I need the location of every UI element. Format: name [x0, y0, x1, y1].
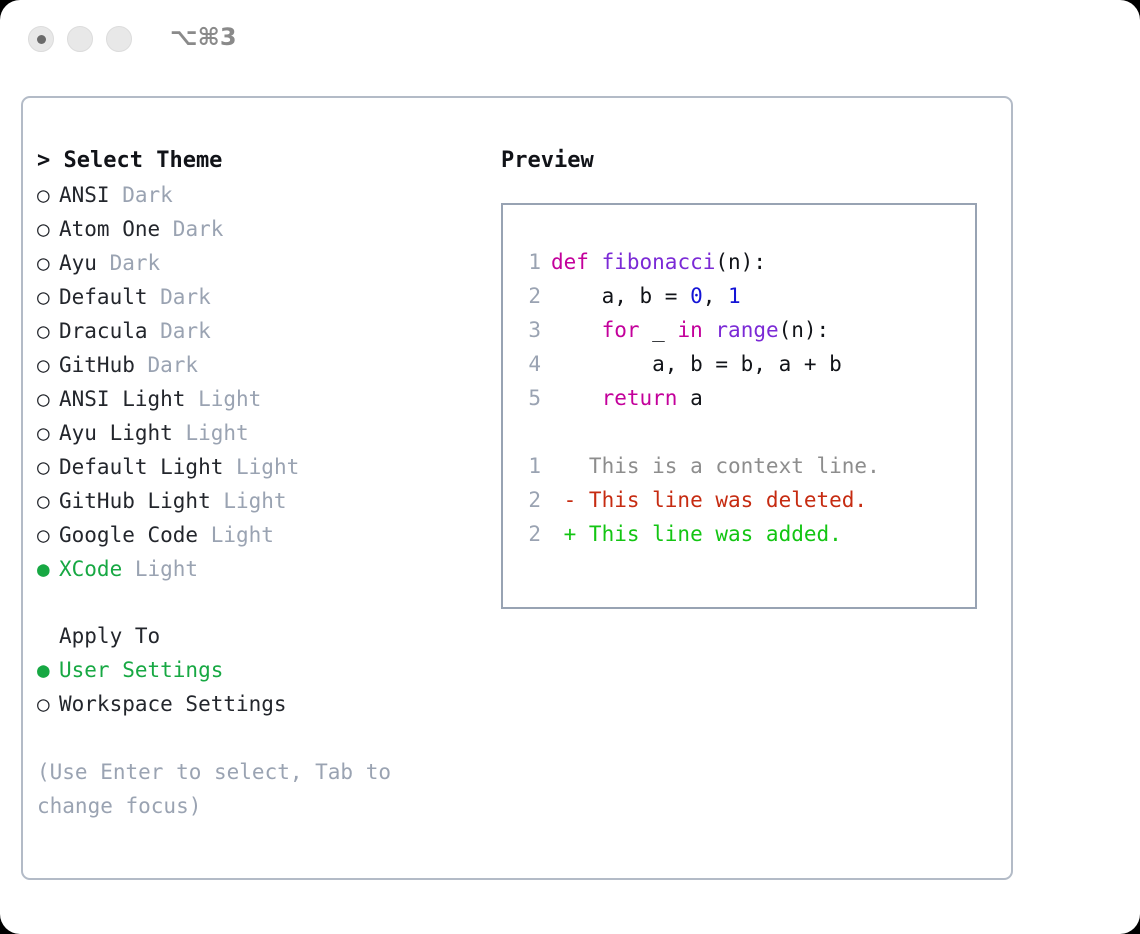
keyboard-hint-text: (Use Enter to select, Tab to change focu… — [37, 755, 437, 823]
theme-option-ayu[interactable]: ○Ayu Dark — [37, 246, 477, 280]
code-sample: 1def fibonacci(n):2 a, b = 0, 13 for _ i… — [513, 245, 969, 415]
preview-box: 1def fibonacci(n):2 a, b = 0, 13 for _ i… — [501, 203, 977, 609]
preview-column: Preview 1def fibonacci(n):2 a, b = 0, 13… — [501, 144, 991, 609]
keyboard-shortcut-label: ⌥⌘3 — [170, 23, 237, 51]
theme-option-atom-one[interactable]: ○Atom One Dark — [37, 212, 477, 246]
theme-option-kind: Dark — [97, 251, 160, 275]
theme-option-default-light[interactable]: ○Default Light Light — [37, 450, 477, 484]
theme-option-list: ○ANSI Dark○Atom One Dark○Ayu Dark○Defaul… — [37, 178, 477, 586]
radio-unselected-icon: ○ — [37, 246, 59, 280]
code-token-pl: a — [677, 386, 702, 410]
radio-unselected-icon: ○ — [37, 212, 59, 246]
code-token-pl — [703, 318, 716, 342]
code-token-kw: def — [551, 250, 589, 274]
theme-option-default[interactable]: ○Default Dark — [37, 280, 477, 314]
code-line-text: a, b = 0, 1 — [551, 279, 741, 313]
code-token-kw: return — [602, 386, 678, 410]
code-line: 3 for _ in range(n): — [513, 313, 969, 347]
code-line: 4 a, b = b, a + b — [513, 347, 969, 381]
preview-code-area: 1def fibonacci(n):2 a, b = 0, 13 for _ i… — [513, 245, 969, 551]
window-controls — [28, 26, 132, 52]
theme-option-label: Google Code — [59, 523, 198, 547]
theme-selection-column: > Select Theme ○ANSI Dark○Atom One Dark○… — [37, 144, 477, 823]
diff-line: 2 - This line was deleted. — [513, 483, 969, 517]
code-line-text: a, b = b, a + b — [551, 347, 842, 381]
code-line-text: return a — [551, 381, 703, 415]
code-token-fn: fibonacci — [602, 250, 716, 274]
theme-option-dracula[interactable]: ○Dracula Dark — [37, 314, 477, 348]
code-token-pl — [551, 318, 602, 342]
code-line-text: def fibonacci(n): — [551, 245, 766, 279]
preview-heading: Preview — [501, 144, 991, 178]
code-token-kw: in — [677, 318, 702, 342]
radio-unselected-icon: ○ — [37, 518, 59, 552]
theme-option-ansi[interactable]: ○ANSI Dark — [37, 178, 477, 212]
theme-option-xcode[interactable]: ●XCode Light — [37, 552, 477, 586]
title-bar: ⌥⌘3 — [0, 0, 1140, 78]
apply-to-option-label: Workspace Settings — [59, 692, 287, 716]
theme-option-ayu-light[interactable]: ○Ayu Light Light — [37, 416, 477, 450]
code-token-pl: _ — [640, 318, 678, 342]
theme-option-google-code[interactable]: ○Google Code Light — [37, 518, 477, 552]
code-token-pl — [551, 386, 602, 410]
code-line: 1def fibonacci(n): — [513, 245, 969, 279]
theme-option-label: XCode — [59, 557, 122, 581]
theme-option-label: ANSI Light — [59, 387, 185, 411]
apply-to-heading: Apply To — [37, 619, 477, 653]
diff-line-number: 2 — [513, 517, 541, 551]
theme-option-kind: Dark — [148, 319, 211, 343]
radio-unselected-icon: ○ — [37, 416, 59, 450]
radio-unselected-icon: ○ — [37, 450, 59, 484]
theme-option-kind: Light — [173, 421, 249, 445]
apply-to-option-list: ●User Settings○Workspace Settings — [37, 653, 477, 721]
theme-option-ansi-light[interactable]: ○ANSI Light Light — [37, 382, 477, 416]
radio-unselected-icon: ○ — [37, 280, 59, 314]
code-line: 5 return a — [513, 381, 969, 415]
theme-option-label: Ayu — [59, 251, 97, 275]
window-dot-3-icon[interactable] — [106, 26, 132, 52]
radio-unselected-icon: ○ — [37, 484, 59, 518]
code-token-num: 1 — [728, 284, 741, 308]
diff-line: 1 This is a context line. — [513, 449, 969, 483]
code-line-number: 3 — [513, 313, 541, 347]
radio-unselected-icon: ○ — [37, 178, 59, 212]
theme-option-kind: Light — [122, 557, 198, 581]
theme-option-label: GitHub Light — [59, 489, 211, 513]
diff-line-text-add: + This line was added. — [551, 517, 842, 551]
code-token-pl: a, b = — [551, 284, 690, 308]
section-spacer — [37, 586, 477, 619]
apply-to-option-label: User Settings — [59, 658, 223, 682]
theme-option-kind: Light — [185, 387, 261, 411]
code-token-kw: for — [602, 318, 640, 342]
diff-sample: 1 This is a context line.2 - This line w… — [513, 449, 969, 551]
code-diff-spacer — [513, 415, 969, 449]
code-token-pl — [589, 250, 602, 274]
diff-line-number: 1 — [513, 449, 541, 483]
diff-line-text-del: - This line was deleted. — [551, 483, 867, 517]
diff-line-number: 2 — [513, 483, 541, 517]
theme-option-kind: Dark — [110, 183, 173, 207]
apply-to-option-user-settings[interactable]: ●User Settings — [37, 653, 477, 687]
theme-option-kind: Light — [223, 455, 299, 479]
theme-option-kind: Light — [198, 523, 274, 547]
radio-unselected-icon: ○ — [37, 382, 59, 416]
app-window: ⌥⌘3 > Select Theme ○ANSI Dark○Atom One D… — [0, 0, 1140, 934]
theme-option-kind: Dark — [148, 285, 211, 309]
radio-unselected-icon: ○ — [37, 348, 59, 382]
select-theme-heading: > Select Theme — [37, 144, 477, 178]
code-token-fn: range — [715, 318, 778, 342]
diff-line: 2 + This line was added. — [513, 517, 969, 551]
code-line-number: 1 — [513, 245, 541, 279]
theme-option-label: Default Light — [59, 455, 223, 479]
theme-option-github[interactable]: ○GitHub Dark — [37, 348, 477, 382]
code-token-num: 0 — [690, 284, 703, 308]
radio-selected-icon: ● — [37, 552, 59, 586]
code-line-text: for _ in range(n): — [551, 313, 829, 347]
theme-option-label: GitHub — [59, 353, 135, 377]
theme-picker-panel: > Select Theme ○ANSI Dark○Atom One Dark○… — [21, 96, 1013, 880]
theme-option-label: ANSI — [59, 183, 110, 207]
theme-option-label: Dracula — [59, 319, 148, 343]
theme-option-kind: Dark — [160, 217, 223, 241]
code-token-pl: (n): — [715, 250, 766, 274]
window-dot-2-icon[interactable] — [67, 26, 93, 52]
code-token-pl: a, b = b, a + b — [551, 352, 842, 376]
theme-option-github-light[interactable]: ○GitHub Light Light — [37, 484, 477, 518]
code-token-pl: , — [703, 284, 728, 308]
code-line-number: 2 — [513, 279, 541, 313]
window-dot-active-icon[interactable] — [28, 26, 54, 52]
theme-option-label: Default — [59, 285, 148, 309]
theme-option-kind: Dark — [135, 353, 198, 377]
radio-unselected-icon: ○ — [37, 314, 59, 348]
theme-option-kind: Light — [211, 489, 287, 513]
window-dot-inner — [37, 35, 46, 44]
code-line-number: 5 — [513, 381, 541, 415]
theme-option-label: Ayu Light — [59, 421, 173, 445]
diff-line-text-ctx: This is a context line. — [551, 449, 880, 483]
theme-option-label: Atom One — [59, 217, 160, 241]
radio-selected-icon: ● — [37, 653, 59, 687]
code-token-pl: (n): — [779, 318, 830, 342]
apply-to-option-workspace-settings[interactable]: ○Workspace Settings — [37, 687, 477, 721]
radio-unselected-icon: ○ — [37, 687, 59, 721]
code-line-number: 4 — [513, 347, 541, 381]
code-line: 2 a, b = 0, 1 — [513, 279, 969, 313]
